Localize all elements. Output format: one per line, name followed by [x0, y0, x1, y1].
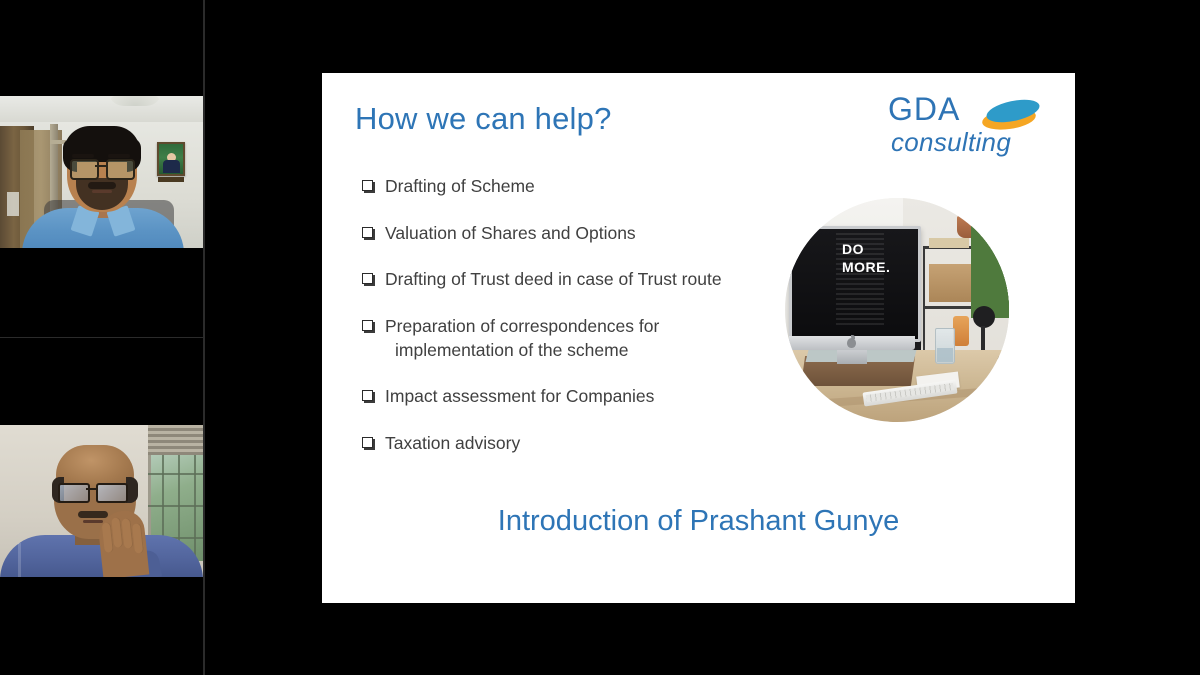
window-grill-vertical — [194, 443, 196, 561]
participant-video-1 — [0, 96, 203, 248]
logo-swoosh-icon — [980, 97, 1042, 131]
window-grill-horizontal — [148, 505, 203, 507]
participant-2-hand — [97, 509, 150, 577]
microphone-icon — [973, 306, 995, 328]
screen-text-line-2: MORE. — [842, 260, 890, 274]
portrait-nameplate — [158, 177, 184, 182]
participant-2-mouth — [83, 520, 103, 523]
imac-stand — [837, 350, 867, 364]
participant-filmstrip — [0, 0, 203, 675]
bullet-label: Valuation of Shares and Options — [385, 222, 636, 246]
participant-2-glasses-left — [58, 483, 90, 503]
room-ceiling — [0, 96, 203, 122]
participant-1-scene — [0, 96, 203, 248]
participant-tile-1[interactable] — [0, 0, 203, 337]
water-glass — [935, 328, 955, 364]
window-grill-horizontal — [148, 473, 203, 475]
participant-2-shirt-fold — [18, 543, 21, 577]
participant-1-eyebrow-left — [72, 154, 94, 158]
checkbox-square-icon — [362, 437, 374, 449]
bullet-label-continuation: implementation of the scheme — [385, 339, 659, 363]
bullet-label: Taxation advisory — [385, 432, 520, 456]
participant-2-glasses-bridge — [86, 488, 96, 490]
apple-logo-icon — [847, 338, 856, 348]
list-item: Impact assessment for Companies — [362, 385, 792, 409]
finger — [132, 523, 144, 554]
participant-video-2 — [0, 425, 203, 577]
checkbox-square-icon — [362, 390, 374, 402]
portrait-canvas — [159, 144, 183, 174]
desk-jar — [953, 316, 969, 346]
framed-portrait — [157, 142, 185, 176]
slide-footer-heading: Introduction of Prashant Gunye — [322, 505, 1075, 538]
list-item: Drafting of Trust deed in case of Trust … — [362, 268, 792, 292]
portrait-body — [163, 160, 180, 173]
checkbox-square-icon — [362, 320, 374, 332]
checkbox-square-icon — [362, 180, 374, 192]
participant-tile-2[interactable] — [0, 338, 203, 675]
filmstrip-divider — [203, 0, 205, 675]
checkbox-square-icon — [362, 227, 374, 239]
video-conference-screen: How we can help? GDA consulting Drafting… — [0, 0, 1200, 675]
participant-1-glasses-right — [106, 159, 135, 180]
participant-2-moustache — [78, 511, 108, 518]
window-blinds — [148, 425, 203, 455]
participant-1-mouth — [92, 190, 112, 193]
participant-1-glasses-left — [70, 159, 99, 180]
bullet-label: Preparation of correspondences for — [385, 316, 659, 336]
checkbox-square-icon — [362, 273, 374, 285]
logo-brand-text: GDA — [888, 91, 960, 128]
participant-2-scene — [0, 425, 203, 577]
slide-title: How we can help? — [355, 101, 612, 137]
screen-text-line-1: DO — [842, 242, 864, 256]
water — [937, 348, 953, 362]
bullet-label: Drafting of Scheme — [385, 175, 535, 199]
participant-1-glasses-bridge — [95, 165, 106, 167]
bullet-label: Drafting of Trust deed in case of Trust … — [385, 268, 722, 292]
participant-1-eyebrow-right — [108, 154, 130, 158]
cardboard-box — [929, 264, 971, 302]
finger — [121, 518, 133, 549]
workspace-photo: DO MORE. — [785, 198, 1009, 422]
logo-tagline-text: consulting — [891, 127, 1011, 158]
gda-consulting-logo: GDA consulting — [888, 91, 1063, 169]
list-item: Valuation of Shares and Options — [362, 222, 792, 246]
shelf-books — [929, 238, 969, 248]
door-panel — [7, 192, 19, 216]
bullet-label: Impact assessment for Companies — [385, 385, 654, 409]
participant-1-moustache — [88, 182, 116, 189]
participant-2-glasses-right — [96, 483, 128, 503]
list-item: Preparation of correspondences for imple… — [362, 315, 792, 362]
list-item: Taxation advisory — [362, 432, 792, 456]
hanging-plant — [971, 208, 1009, 318]
list-item: Drafting of Scheme — [362, 175, 792, 199]
shared-slide[interactable]: How we can help? GDA consulting Drafting… — [322, 73, 1075, 603]
bullet-list: Drafting of Scheme Valuation of Shares a… — [362, 175, 792, 478]
